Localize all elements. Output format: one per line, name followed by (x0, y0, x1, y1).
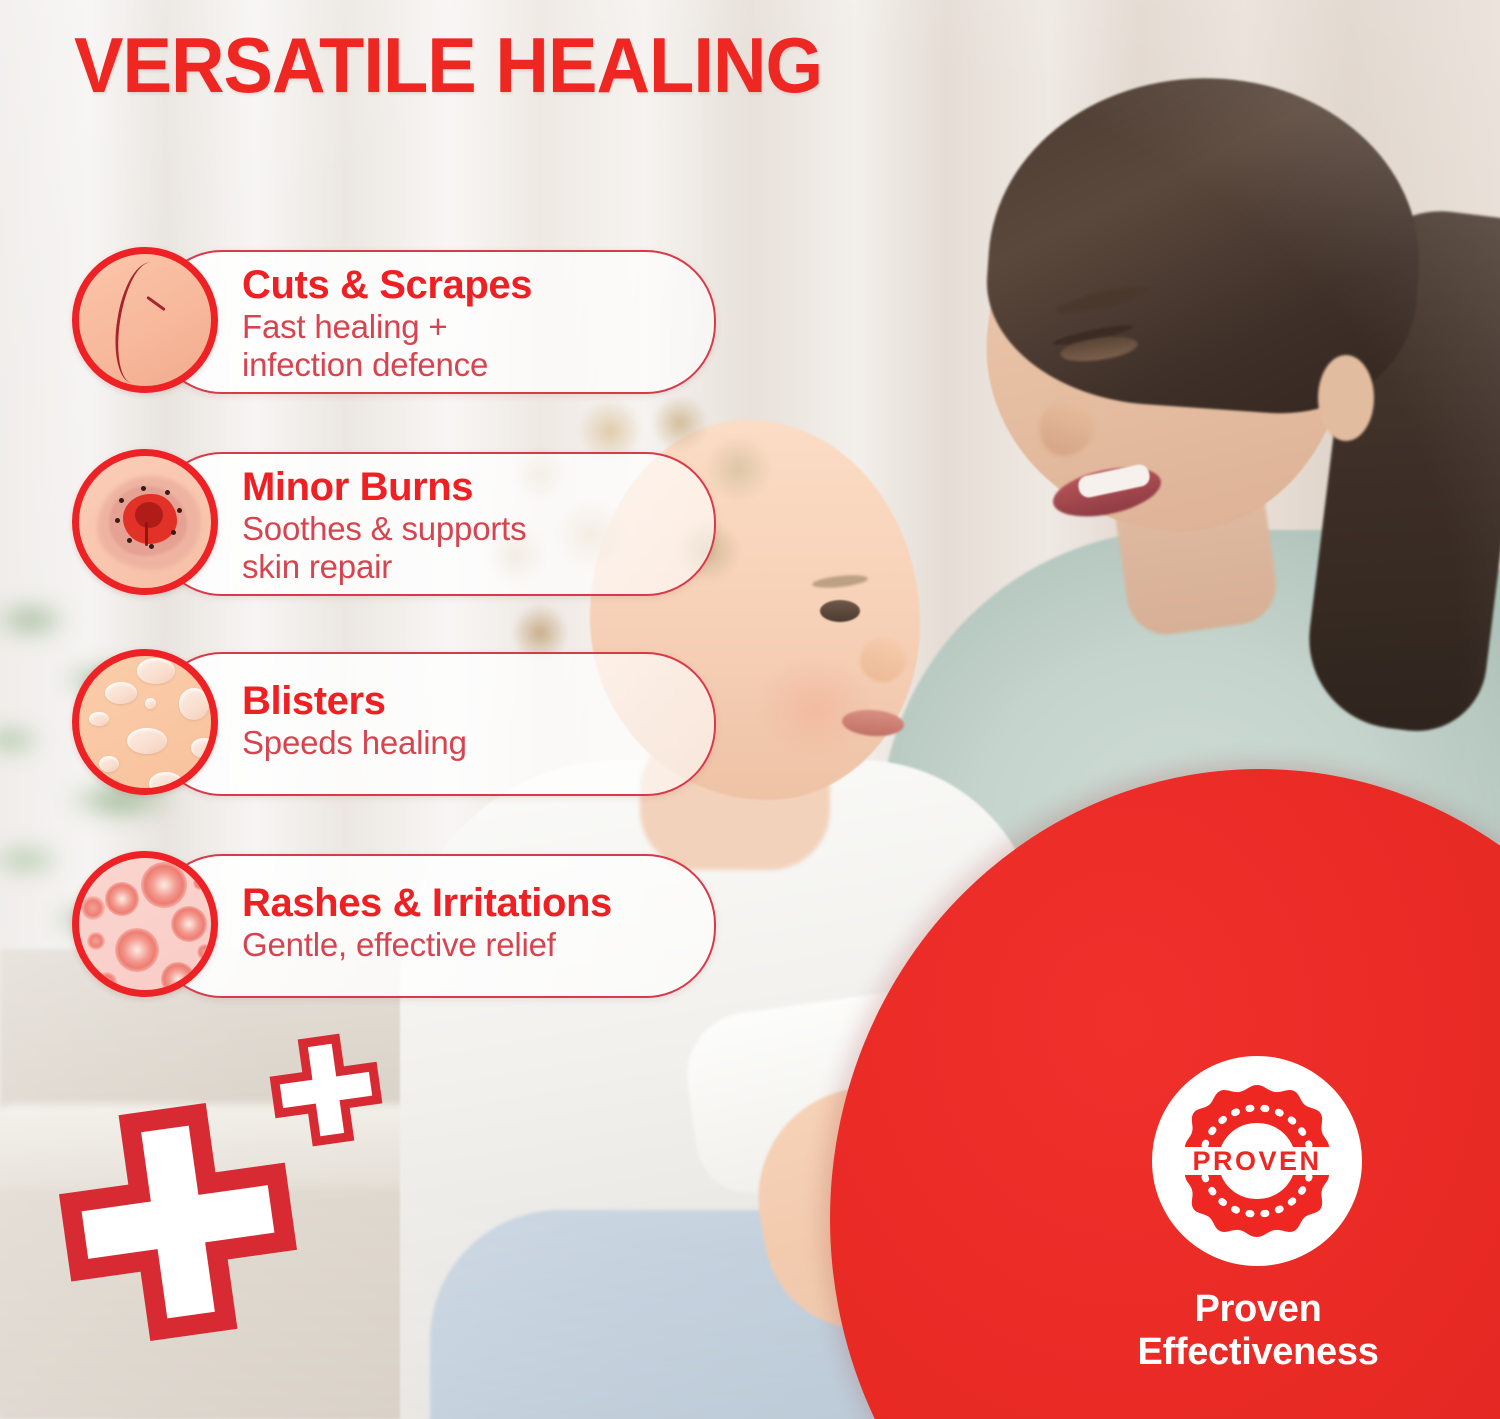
feature-text: Cuts & Scrapes Fast healing + infection … (242, 264, 690, 383)
feature-card-minor-burns: Minor Burns Soothes & supports skin repa… (152, 452, 716, 596)
blister-bubble (87, 674, 96, 683)
rash-spot (193, 876, 207, 890)
burn-speck (177, 508, 182, 513)
badge-caption: Proven Effectiveness (1080, 1288, 1436, 1373)
feature-subtitle-line: Gentle, effective relief (242, 926, 690, 964)
badge-caption-line2: Effectiveness (1080, 1331, 1436, 1374)
feature-subtitle-line: Fast healing + (242, 308, 690, 346)
feature-title: Blisters (242, 680, 690, 723)
proven-badge: PROVEN (1152, 1056, 1362, 1266)
blister-bubble (89, 712, 109, 726)
feature-card-blisters: Blisters Speeds healing (152, 652, 716, 796)
proven-stamp-icon: PROVEN (1173, 1077, 1341, 1245)
skin-burn-icon (72, 449, 218, 595)
feature-card-rashes-irritations: Rashes & Irritations Gentle, effective r… (152, 854, 716, 998)
rash-spot (81, 896, 105, 920)
burn-speck (127, 538, 132, 543)
burn-speck (149, 544, 154, 549)
feature-subtitle-line: skin repair (242, 548, 690, 586)
burn-speck (141, 486, 146, 491)
blister-bubble (179, 688, 209, 720)
rash-spot (97, 972, 117, 992)
feature-subtitle: Gentle, effective relief (242, 926, 690, 964)
skin-rash-icon (72, 851, 218, 997)
rash-spot (115, 928, 159, 972)
skin-blister-icon (72, 649, 218, 795)
cut-line (108, 259, 175, 387)
rash-spot (171, 906, 207, 942)
badge-caption-line1: Proven (1080, 1288, 1436, 1331)
feature-text: Minor Burns Soothes & supports skin repa… (242, 466, 690, 585)
blister-bubble (105, 682, 137, 704)
feature-subtitle-line: infection defence (242, 346, 690, 384)
feature-subtitle: Speeds healing (242, 724, 690, 762)
rash-spot (105, 882, 139, 916)
rash-spot (87, 932, 105, 950)
feature-text: Blisters Speeds healing (242, 680, 690, 762)
feature-title: Minor Burns (242, 466, 690, 509)
burn-speck (115, 518, 120, 523)
blister-bubble (99, 756, 119, 772)
rash-spot (141, 862, 187, 908)
burn-core (135, 502, 163, 528)
feature-title: Cuts & Scrapes (242, 264, 690, 307)
skin-cut-icon (72, 247, 218, 393)
feature-subtitle-line: Soothes & supports (242, 510, 690, 548)
proven-stamp-text: PROVEN (1192, 1146, 1321, 1176)
feature-card-cuts-scrapes: Cuts & Scrapes Fast healing + infection … (152, 250, 716, 394)
burn-drip (145, 522, 148, 546)
feature-text: Rashes & Irritations Gentle, effective r… (242, 882, 690, 964)
feature-subtitle-line: Speeds healing (242, 724, 690, 762)
rash-spot (197, 944, 213, 960)
medical-cross-icon-large (49, 1093, 307, 1351)
burn-speck (165, 490, 170, 495)
feature-subtitle: Soothes & supports skin repair (242, 510, 690, 585)
blister-bubble (127, 728, 167, 754)
burn-speck (119, 498, 124, 503)
blister-bubble (145, 698, 156, 709)
burn-speck (171, 530, 176, 535)
page-title: VERSATILE HEALING (74, 26, 822, 104)
feature-title: Rashes & Irritations (242, 882, 690, 925)
medical-cross-icon-small (265, 1029, 387, 1151)
feature-subtitle: Fast healing + infection defence (242, 308, 690, 383)
blister-bubble (137, 658, 175, 684)
infographic-canvas: VERSATILE HEALING Cuts & Scrapes Fast he… (0, 0, 1500, 1419)
